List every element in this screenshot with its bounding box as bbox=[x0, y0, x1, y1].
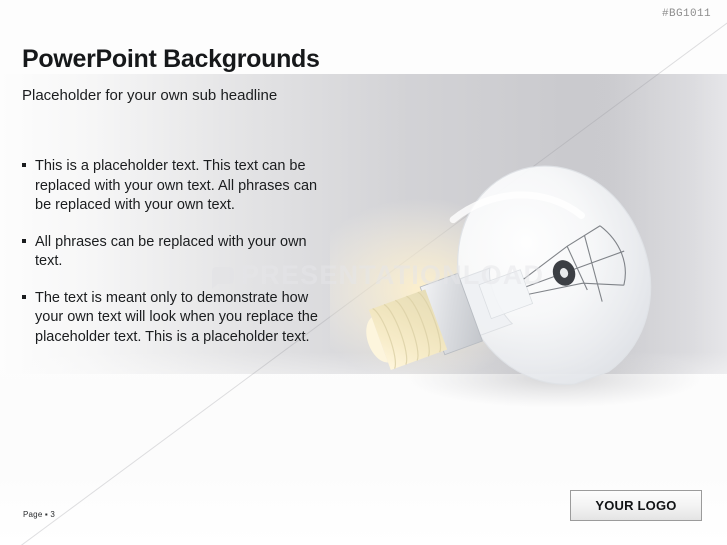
page-subtitle: Placeholder for your own sub headline bbox=[22, 87, 277, 104]
template-code: #BG1011 bbox=[662, 8, 711, 20]
square-bullet-icon bbox=[22, 289, 35, 299]
page-number: Page ▪ 3 bbox=[23, 510, 55, 519]
background-right-vignette bbox=[607, 74, 727, 374]
list-item-text: This is a placeholder text. This text ca… bbox=[35, 157, 334, 216]
list-item: This is a placeholder text. This text ca… bbox=[22, 157, 334, 216]
list-item: The text is meant only to demonstrate ho… bbox=[22, 289, 334, 348]
slide-canvas: PRESENTATIONLOAD #BG1011 PowerPoint Back… bbox=[0, 0, 727, 545]
bullet-list: This is a placeholder text. This text ca… bbox=[22, 157, 334, 347]
list-item-text: The text is meant only to demonstrate ho… bbox=[35, 289, 334, 348]
square-bullet-icon bbox=[22, 233, 35, 243]
logo-placeholder-box[interactable]: YOUR LOGO bbox=[570, 490, 702, 521]
logo-placeholder-label: YOUR LOGO bbox=[595, 498, 676, 513]
page-title: PowerPoint Backgrounds bbox=[22, 45, 320, 74]
square-bullet-icon bbox=[22, 157, 35, 167]
list-item-text: All phrases can be replaced with your ow… bbox=[35, 233, 334, 272]
list-item: All phrases can be replaced with your ow… bbox=[22, 233, 334, 272]
